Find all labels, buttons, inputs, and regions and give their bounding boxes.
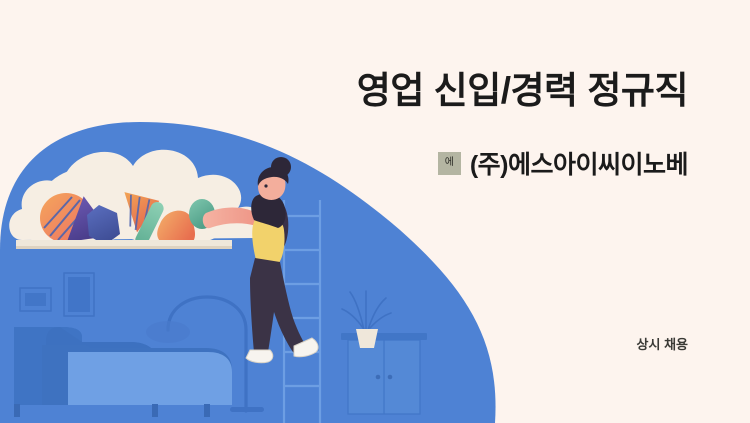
wall-frame-tall bbox=[64, 273, 94, 316]
company-row: 에 (주)에스아이씨이노베 bbox=[438, 145, 688, 181]
job-posting-poster: 영업 신입/경력 정규직 에 (주)에스아이씨이노베 상시 채용 bbox=[0, 0, 750, 423]
hair-bun bbox=[271, 157, 291, 177]
scene-illustration bbox=[0, 0, 750, 423]
eye bbox=[264, 184, 267, 187]
company-badge: 에 bbox=[438, 152, 461, 175]
page-title: 영업 신입/경력 정규직 bbox=[357, 70, 688, 113]
status-badge: 상시 채용 bbox=[637, 334, 688, 353]
company-name: (주)에스아이씨이노베 bbox=[470, 145, 688, 181]
shoe-left bbox=[246, 350, 273, 363]
cabinet bbox=[341, 333, 427, 414]
shelf-board bbox=[16, 240, 232, 249]
